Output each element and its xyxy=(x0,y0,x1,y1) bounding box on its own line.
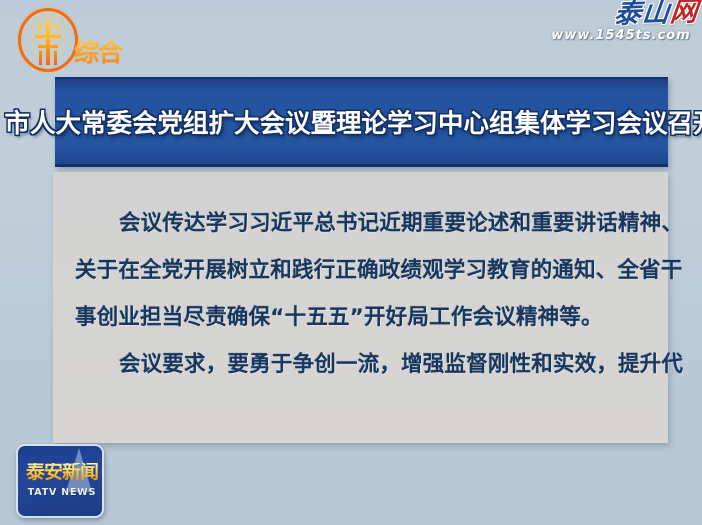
broadcast-screen: 综合 泰山网 www.1545ts.com 市人大常委会党组扩大会议暨理论学习中… xyxy=(0,0,702,525)
body-line: 会议传达学习习近平总书记近期重要论述和重要讲话精神、 xyxy=(75,200,646,247)
site-watermark: 泰山网 www.1545ts.com xyxy=(540,2,698,50)
news-bug-title: 泰安新闻 xyxy=(23,463,101,482)
news-program-bug: 泰安新闻 TATV NEWS xyxy=(16,444,104,518)
body-line: 关于在全党开展树立和践行正确政绩观学习教育的通知、全省干 xyxy=(75,247,646,294)
watermark-url: www.1545ts.com xyxy=(546,28,696,43)
body-line: 事创业担当尽责确保“十五五”开好局工作会议精神等。 xyxy=(75,294,646,341)
watermark-calligraphy-red: 网 xyxy=(669,0,700,28)
headline-banner: 市人大常委会党组扩大会议暨理论学习中心组集体学习会议召开 xyxy=(55,77,668,167)
watermark-calligraphy-blue: 泰山 xyxy=(612,0,672,30)
tatv-circular-emblem-icon xyxy=(18,8,78,72)
emblem-glyph-icon xyxy=(35,21,61,65)
body-line: 会议要求，要勇于争创一流，增强监督刚性和实效，提升代 xyxy=(75,341,646,388)
channel-label: 综合 xyxy=(74,40,122,65)
station-logo: 综合 xyxy=(12,6,137,78)
news-bug-subtitle: TATV NEWS xyxy=(21,487,103,498)
body-content-panel: 会议传达学习习近平总书记近期重要论述和重要讲话精神、 关于在全党开展树立和践行正… xyxy=(53,172,668,443)
headline-title: 市人大常委会党组扩大会议暨理论学习中心组集体学习会议召开 xyxy=(5,103,702,140)
